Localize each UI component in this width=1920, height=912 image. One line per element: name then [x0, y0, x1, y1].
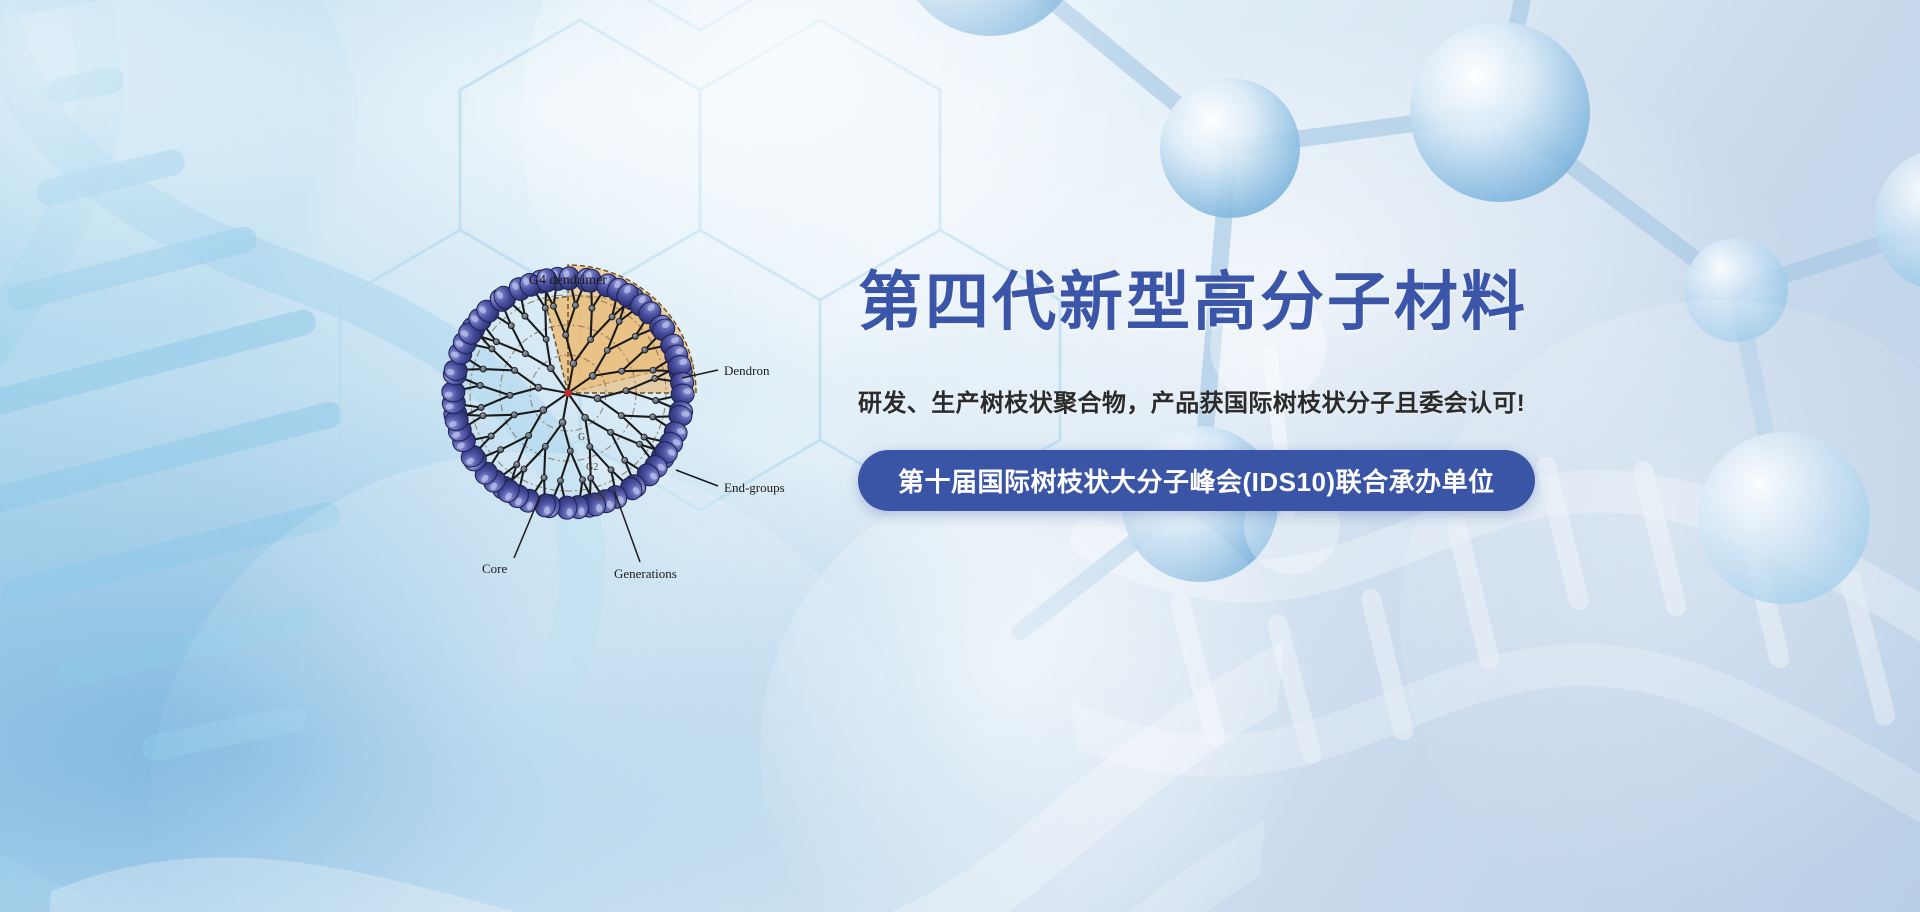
summit-cobhost-button[interactable]: 第十届国际树枝状大分子峰会(IDS10)联合承办单位 — [858, 450, 1535, 511]
hero-subtitle: 研发、生产树枝状聚合物，产品获国际树枝状分子且委会认可! — [858, 383, 1618, 418]
dendrimer-diagram-icon: G4 dendrimer Dendron End-groups Core Gen… — [418, 258, 838, 626]
hero-banner: G4 dendrimer Dendron End-groups Core Gen… — [0, 0, 1920, 912]
figure-ring-label-g1: G1 — [578, 432, 590, 443]
hero-content: 第四代新型高分子材料 研发、生产树枝状聚合物，产品获国际树枝状分子且委会认可! … — [858, 268, 1618, 511]
figure-ring-label-g2: G2 — [586, 462, 598, 473]
figure-label-end-groups: End-groups — [724, 480, 785, 495]
figure-ring-label-g3: G3 — [594, 492, 606, 503]
dendrimer-figure: G4 dendrimer Dendron End-groups Core Gen… — [418, 258, 838, 626]
figure-label-dendron: Dendron — [724, 363, 770, 378]
bokeh-blob — [0, 0, 360, 400]
bokeh-blob — [760, 470, 1320, 912]
figure-label-generations: Generations — [614, 566, 677, 581]
figure-label-core: Core — [482, 561, 508, 576]
figure-title: G4 dendrimer — [529, 273, 607, 288]
page-title: 第四代新型高分子材料 — [858, 268, 1618, 337]
